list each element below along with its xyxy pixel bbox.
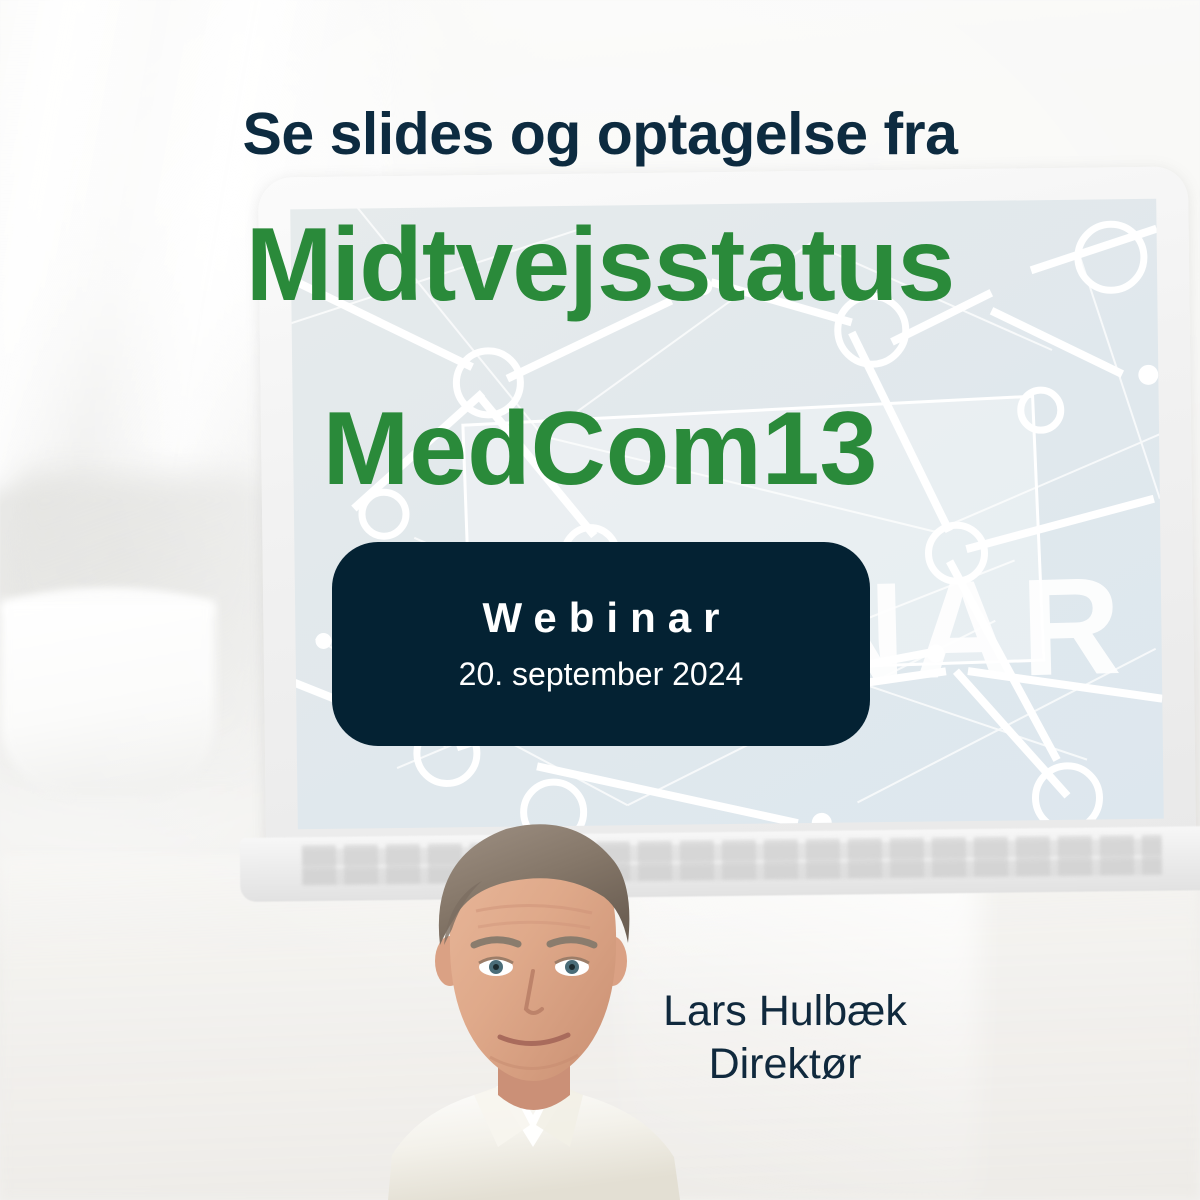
speaker-caption: Lars Hulbæk Direktør	[620, 985, 950, 1092]
webinar-promo-poster: WEBINAR Se slides og optagelse fra Midtv…	[0, 0, 1200, 1200]
poster-kicker: Se slides og optagelse fra	[0, 100, 1200, 168]
badge-date: 20. september 2024	[459, 656, 744, 693]
poster-title-line-1: Midtvejsstatus	[0, 206, 1200, 325]
poster-title-line-2: MedCom13	[0, 390, 1200, 509]
webinar-badge: Webinar 20. september 2024	[332, 542, 870, 746]
speaker-role: Direktør	[620, 1038, 950, 1091]
badge-label: Webinar	[483, 595, 732, 641]
speaker-name: Lars Hulbæk	[620, 985, 950, 1038]
